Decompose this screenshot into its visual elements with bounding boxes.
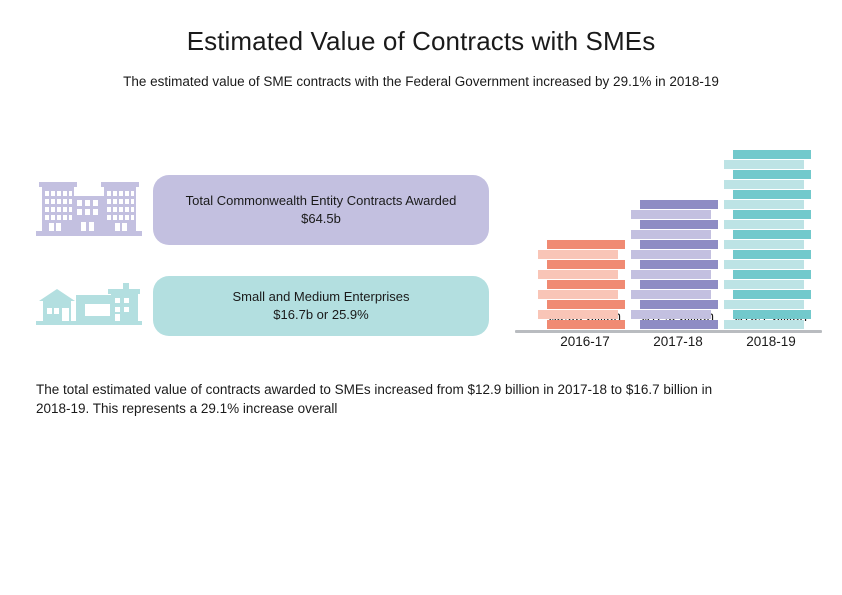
- bar-stack-2018-19: [721, 150, 821, 330]
- bar-segment: [640, 300, 718, 309]
- bar-segment: [631, 310, 711, 319]
- bar-stack-2017-18: [628, 200, 728, 330]
- bar-segment: [538, 310, 618, 319]
- bar-segment: [724, 180, 804, 189]
- bar-segment: [640, 280, 718, 289]
- callout-sme-line2: $16.7b or 25.9%: [232, 306, 409, 324]
- bar-segment: [547, 280, 625, 289]
- bar-segment: [538, 270, 618, 279]
- bar-segment: [640, 220, 718, 229]
- bar-segment: [733, 270, 811, 279]
- bar-segment: [640, 260, 718, 269]
- bar-segment: [631, 290, 711, 299]
- bar-segment: [733, 190, 811, 199]
- bar-segment: [733, 230, 811, 239]
- bar-segment: [724, 220, 804, 229]
- bar-segment: [640, 320, 718, 329]
- bar-segment: [724, 260, 804, 269]
- x-axis-tick-2017-18: 2017-18: [628, 334, 728, 349]
- x-axis-tick-2016-17: 2016-17: [535, 334, 635, 349]
- bar-segment: [733, 170, 811, 179]
- bar-segment: [538, 290, 618, 299]
- bar-segment: [640, 200, 718, 209]
- bar-segment: [631, 230, 711, 239]
- small-business-buildings-icon: [34, 281, 144, 329]
- bar-segment: [733, 210, 811, 219]
- bar-segment: [724, 240, 804, 249]
- sme-contract-value-bar-chart: $9.95 billion $12.9 billion $16.7 billio…: [505, 100, 842, 350]
- bar-segment: [724, 320, 804, 329]
- bar-segment: [631, 270, 711, 279]
- bar-segment: [724, 200, 804, 209]
- callout-total-line2: $64.5b: [186, 210, 457, 228]
- bar-segment: [733, 250, 811, 259]
- bar-segment: [733, 150, 811, 159]
- page-subtitle: The estimated value of SME contracts wit…: [0, 74, 842, 89]
- bar-segment: [733, 310, 811, 319]
- footer-caption: The total estimated value of contracts a…: [36, 380, 716, 418]
- bar-segment: [724, 280, 804, 289]
- chart-baseline-axis: [515, 330, 822, 333]
- bar-segment: [547, 300, 625, 309]
- bar-segment: [631, 210, 711, 219]
- bar-segment: [733, 290, 811, 299]
- bar-segment: [547, 260, 625, 269]
- bar-stack-2016-17: [535, 240, 635, 330]
- x-axis-tick-2018-19: 2018-19: [721, 334, 821, 349]
- government-building-icon: [36, 172, 142, 244]
- bar-segment: [724, 160, 804, 169]
- bar-segment: [640, 240, 718, 249]
- callout-total-commonwealth: Total Commonwealth Entity Contracts Awar…: [153, 175, 489, 245]
- bar-segment: [547, 320, 625, 329]
- infographic-canvas: Estimated Value of Contracts with SMEs T…: [0, 0, 842, 595]
- page-title: Estimated Value of Contracts with SMEs: [0, 26, 842, 57]
- callout-sme-line1: Small and Medium Enterprises: [232, 289, 409, 304]
- bar-segment: [538, 250, 618, 259]
- callout-total-line1: Total Commonwealth Entity Contracts Awar…: [186, 193, 457, 208]
- bar-segment: [547, 240, 625, 249]
- bar-segment: [724, 300, 804, 309]
- callout-small-medium-enterprises: Small and Medium Enterprises $16.7b or 2…: [153, 276, 489, 336]
- bar-segment: [631, 250, 711, 259]
